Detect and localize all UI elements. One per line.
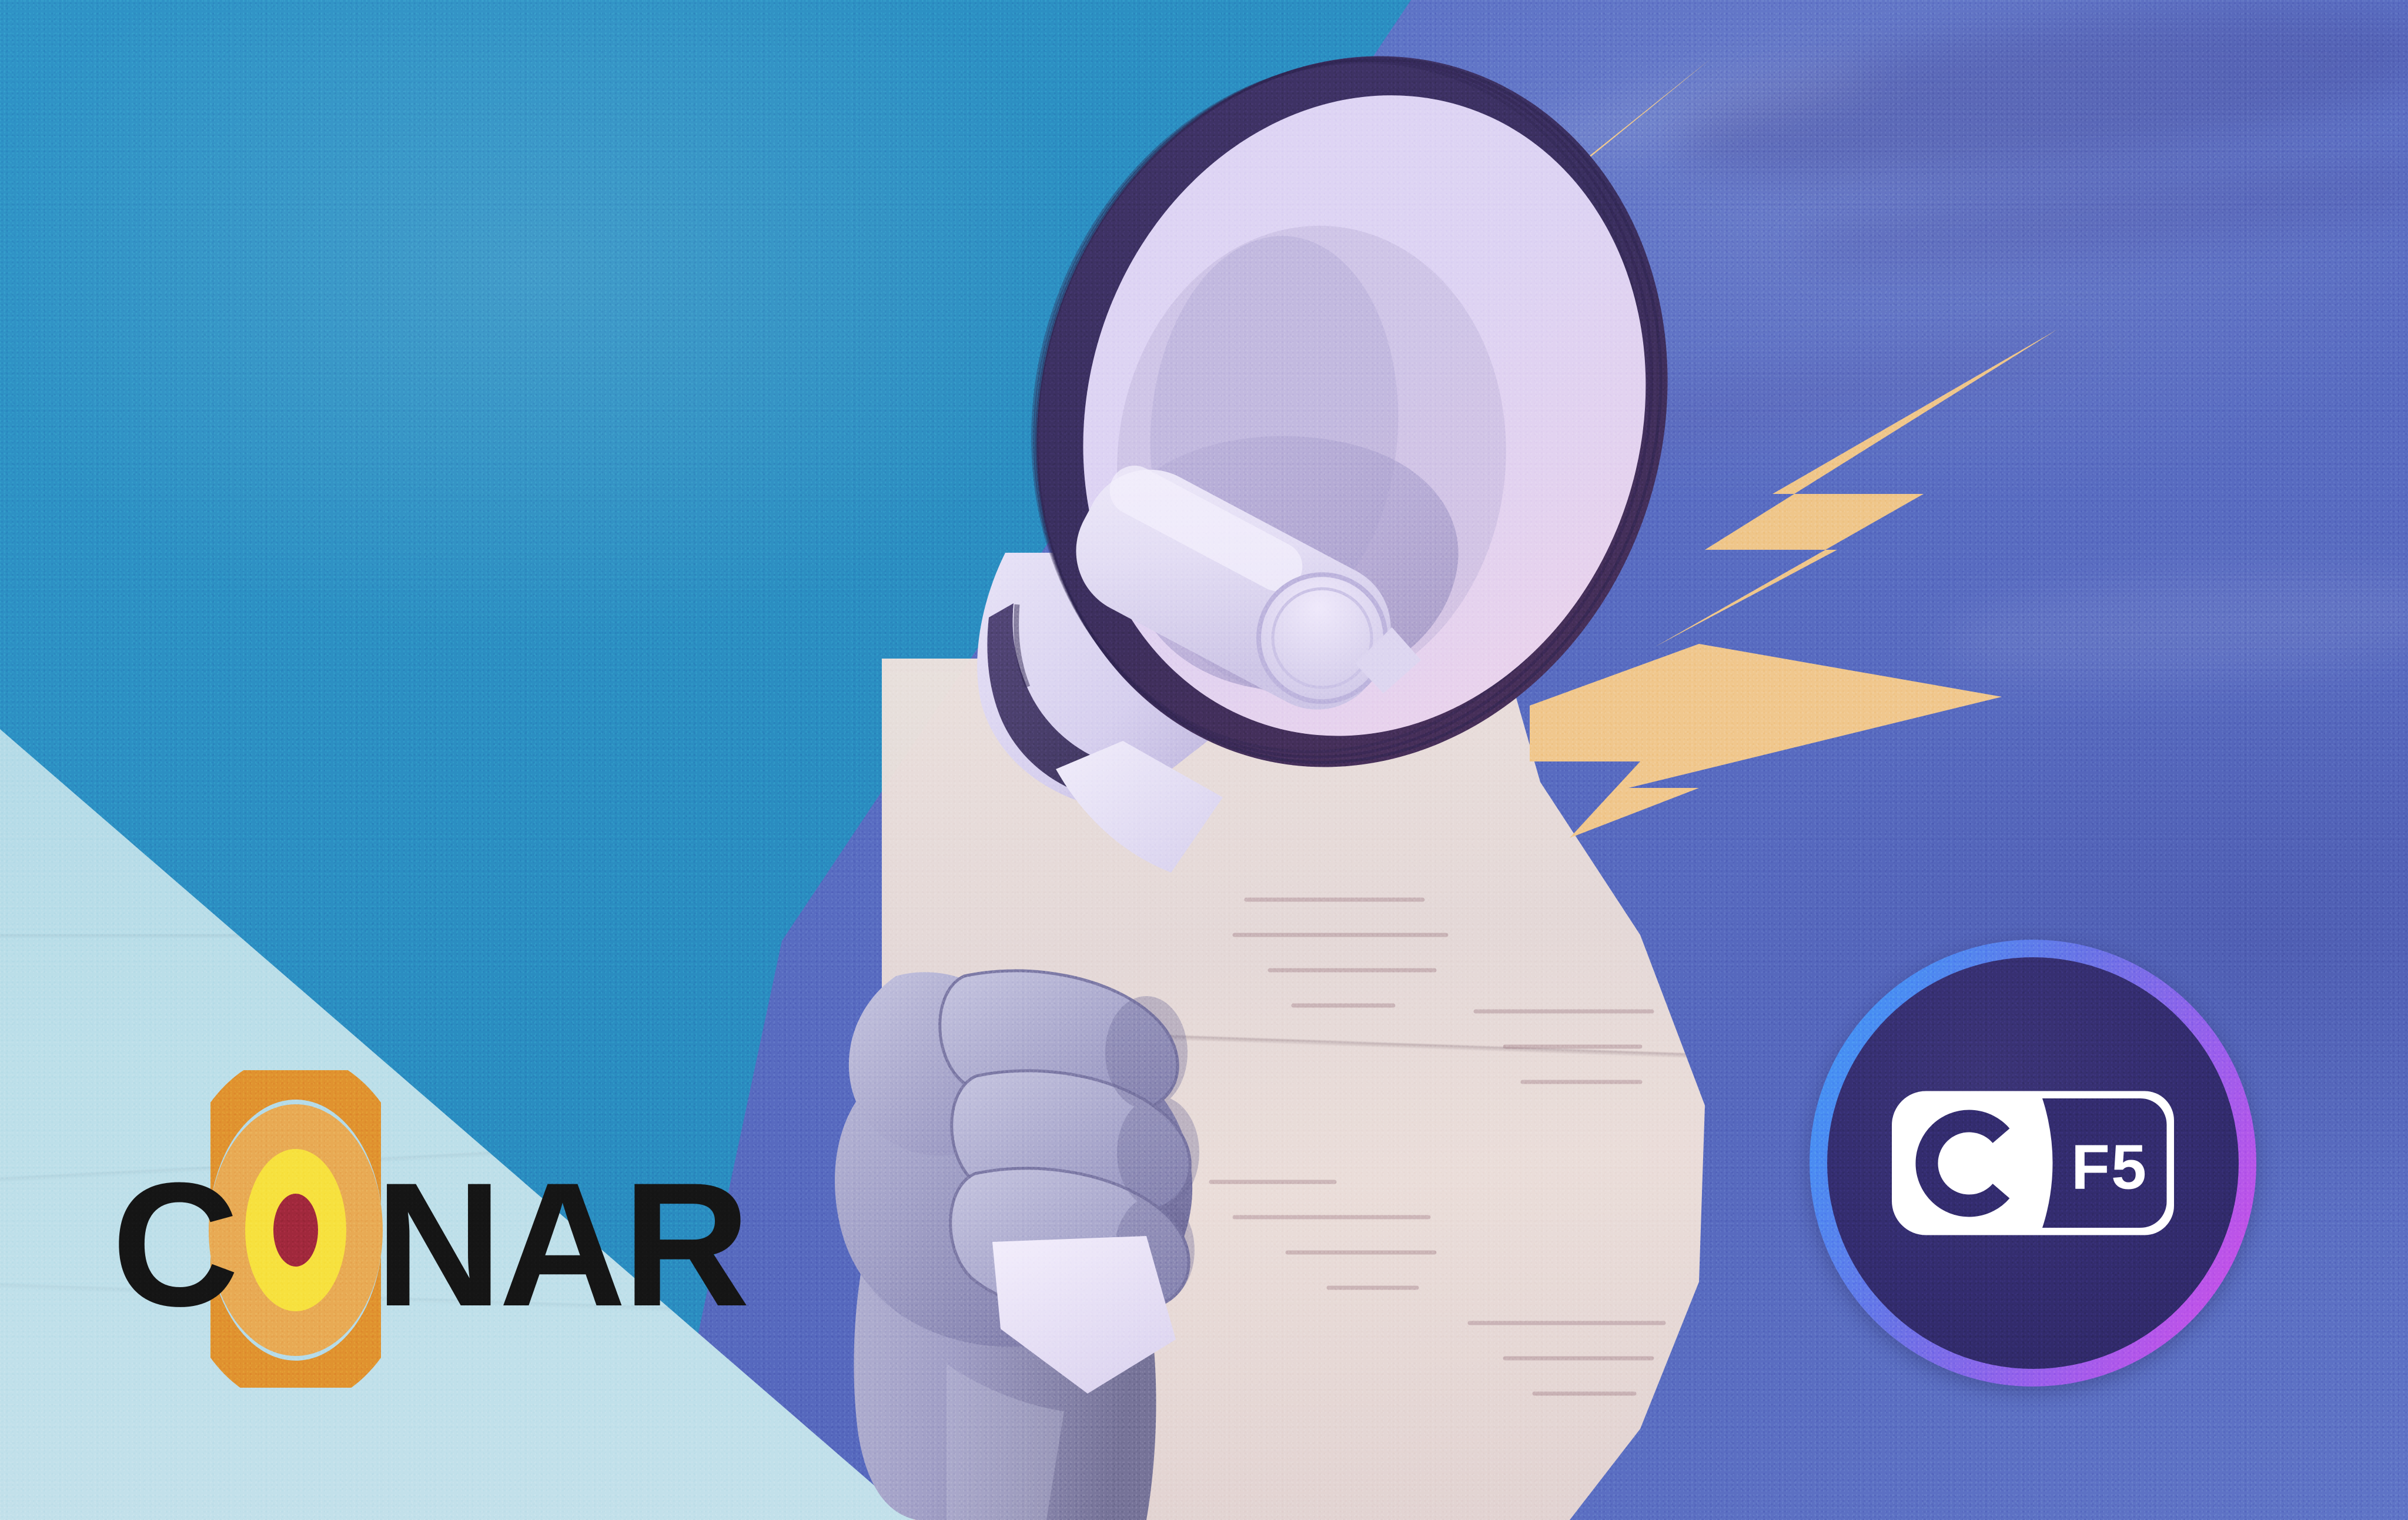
cf5-badge[interactable]: F5 [1810,940,2256,1387]
lightning-bolt-icon [1505,635,2022,894]
cf5-f5-label: F5 [2071,1131,2148,1202]
banner-canvas: C NAR F5 [0,0,2408,1520]
conar-logo-artwork: C NAR [112,1070,800,1388]
conar-logo: C NAR [112,1070,800,1388]
cf5-logo-mark: F5 [1892,1091,2174,1235]
hand-gripping-megaphone [770,800,1464,1520]
conar-letter-c: C [112,1145,236,1343]
conar-letters-nar: NAR [375,1145,747,1343]
